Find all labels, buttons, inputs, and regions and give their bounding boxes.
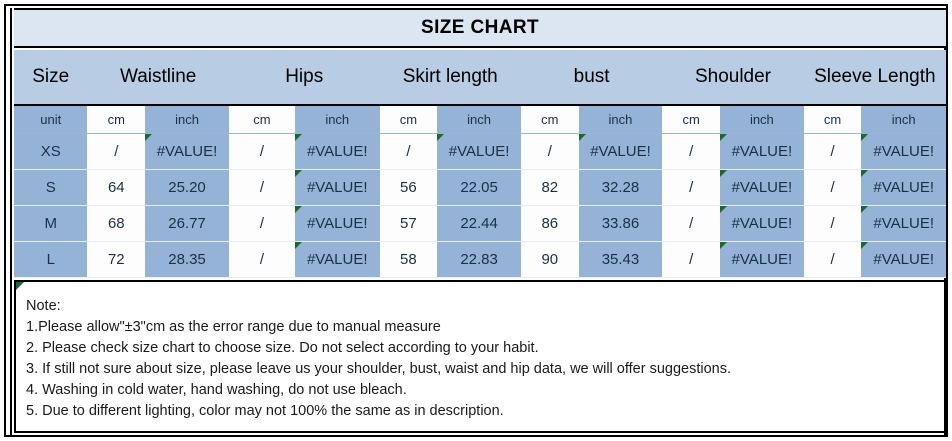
cell-value: #VALUE! [157, 143, 218, 160]
column-header-bust: bust [521, 50, 662, 104]
error-marker-icon [16, 282, 24, 290]
chart-outer-frame: SIZE CHART SizeWaistlineHipsSkirt length… [4, 4, 948, 437]
cell-value: 22.83 [460, 251, 498, 268]
measure-cell: 33.86 [579, 206, 663, 242]
measure-cell: #VALUE! [861, 170, 946, 206]
unit-cell-cm: cm [229, 106, 295, 134]
measure-cell: 35.43 [579, 242, 663, 278]
chart-title-band: SIZE CHART [14, 8, 946, 48]
error-marker-icon [437, 134, 444, 141]
column-header-size: Size [14, 50, 87, 104]
cell-value: / [830, 251, 834, 268]
size-table: unitcminchcminchcminchcminchcminchcminch… [14, 106, 946, 278]
measure-cell: 56 [380, 170, 438, 206]
error-marker-icon [861, 134, 868, 141]
unit-cell-inch: inch [295, 106, 380, 134]
cell-value: / [689, 179, 693, 196]
size-label-cell: XS [14, 134, 87, 170]
unit-cell-inch: inch [861, 106, 946, 134]
column-header-skirt-length: Skirt length [380, 50, 521, 104]
cell-value: / [114, 143, 118, 160]
measure-cell: / [229, 206, 295, 242]
cell-value: 56 [400, 179, 417, 196]
measure-cell: / [662, 170, 720, 206]
measure-cell: 22.44 [437, 206, 521, 242]
measure-cell: 72 [87, 242, 145, 278]
note-heading: Note: [26, 296, 934, 317]
cell-value: #VALUE! [873, 179, 934, 196]
cell-value: / [260, 251, 264, 268]
error-marker-icon [720, 206, 727, 213]
measure-cell: / [804, 134, 862, 170]
cell-value: / [260, 215, 264, 232]
cell-value: 64 [108, 179, 125, 196]
size-label-cell: S [14, 170, 87, 206]
cell-value: #VALUE! [732, 143, 793, 160]
unit-cell-inch: inch [720, 106, 804, 134]
measure-cell: / [662, 206, 720, 242]
cell-value: / [689, 143, 693, 160]
cell-value: 90 [541, 251, 558, 268]
measure-cell: #VALUE! [720, 170, 804, 206]
cell-value: #VALUE! [449, 143, 510, 160]
column-header-sleeve-length: Sleeve Length [804, 50, 946, 104]
table-row: S6425.20/#VALUE!5622.058232.28/#VALUE!/#… [14, 170, 946, 206]
error-marker-icon [861, 170, 868, 177]
size-label-cell: M [14, 206, 87, 242]
measure-cell: / [804, 242, 862, 278]
error-marker-icon [295, 206, 302, 213]
measure-cell: #VALUE! [295, 134, 380, 170]
measure-cell: #VALUE! [295, 170, 380, 206]
table-row: XS/#VALUE!/#VALUE!/#VALUE!/#VALUE!/#VALU… [14, 134, 946, 170]
cell-value: #VALUE! [873, 251, 934, 268]
error-marker-icon [579, 134, 586, 141]
cell-value: 86 [541, 215, 558, 232]
note-line: 4. Washing in cold water, hand washing, … [26, 380, 934, 401]
unit-cell-cm: cm [380, 106, 438, 134]
measure-cell: 86 [521, 206, 579, 242]
error-marker-icon [861, 242, 868, 249]
measure-cell: / [229, 242, 295, 278]
measure-cell: #VALUE! [861, 206, 946, 242]
cell-value: 28.35 [168, 251, 206, 268]
unit-cell-inch: inch [145, 106, 229, 134]
error-marker-icon [861, 206, 868, 213]
cell-value: #VALUE! [590, 143, 651, 160]
cell-value: / [689, 215, 693, 232]
cell-value: / [830, 179, 834, 196]
measure-cell: / [662, 134, 720, 170]
unit-cell-cm: cm [521, 106, 579, 134]
measure-cell: #VALUE! [861, 134, 946, 170]
unit-row-label: unit [14, 106, 87, 134]
column-header-waistline: Waistline [87, 50, 228, 104]
measure-cell: #VALUE! [295, 206, 380, 242]
chart-inner-frame: SIZE CHART SizeWaistlineHipsSkirt length… [10, 8, 946, 435]
measure-cell: / [229, 134, 295, 170]
note-line: 5. Due to different lighting, color may … [26, 401, 934, 422]
measure-cell: / [521, 134, 579, 170]
measure-cell: #VALUE! [720, 134, 804, 170]
measure-cell: / [229, 170, 295, 206]
cell-value: 22.44 [460, 215, 498, 232]
measure-cell: 68 [87, 206, 145, 242]
measure-cell: 32.28 [579, 170, 663, 206]
cell-value: / [830, 215, 834, 232]
note-list: 1.Please allow"±3"cm as the error range … [26, 317, 934, 422]
size-chart-screenshot: SIZE CHART SizeWaistlineHipsSkirt length… [0, 0, 952, 441]
cell-value: 22.05 [460, 179, 498, 196]
cell-value: #VALUE! [873, 215, 934, 232]
measure-cell: #VALUE! [295, 242, 380, 278]
cell-value: 72 [108, 251, 125, 268]
column-header-row: SizeWaistlineHipsSkirt lengthbustShoulde… [14, 50, 946, 106]
measure-cell: 90 [521, 242, 579, 278]
cell-value: #VALUE! [307, 215, 368, 232]
measure-cell: 22.05 [437, 170, 521, 206]
error-marker-icon [295, 242, 302, 249]
cell-value: / [830, 143, 834, 160]
measure-cell: / [662, 242, 720, 278]
cell-value: #VALUE! [307, 251, 368, 268]
measure-cell: 82 [521, 170, 579, 206]
measure-cell: 28.35 [145, 242, 229, 278]
measure-cell: #VALUE! [720, 242, 804, 278]
cell-value: 57 [400, 215, 417, 232]
error-marker-icon [720, 134, 727, 141]
measure-cell: #VALUE! [437, 134, 521, 170]
cell-value: 58 [400, 251, 417, 268]
measure-cell: 22.83 [437, 242, 521, 278]
cell-value: #VALUE! [732, 251, 793, 268]
cell-value: / [548, 143, 552, 160]
cell-value: / [260, 143, 264, 160]
measure-cell: #VALUE! [579, 134, 663, 170]
table-row: L7228.35/#VALUE!5822.839035.43/#VALUE!/#… [14, 242, 946, 278]
column-header-shoulder: Shoulder [662, 50, 803, 104]
size-label-cell: L [14, 242, 87, 278]
note-line: 3. If still not sure about size, please … [26, 359, 934, 380]
cell-value: / [689, 251, 693, 268]
unit-row: unitcminchcminchcminchcminchcminchcminch [14, 106, 946, 134]
cell-value: #VALUE! [732, 215, 793, 232]
error-marker-icon [295, 134, 302, 141]
note-line: 1.Please allow"±3"cm as the error range … [26, 317, 934, 338]
cell-value: / [260, 179, 264, 196]
measure-cell: / [804, 206, 862, 242]
cell-value: 82 [541, 179, 558, 196]
unit-cell-inch: inch [579, 106, 663, 134]
measure-cell: #VALUE! [861, 242, 946, 278]
measure-cell: #VALUE! [720, 206, 804, 242]
measure-cell: 64 [87, 170, 145, 206]
cell-value: 33.86 [602, 215, 640, 232]
measure-cell: #VALUE! [145, 134, 229, 170]
page-title: SIZE CHART [421, 17, 539, 39]
measure-cell: / [804, 170, 862, 206]
unit-cell-cm: cm [662, 106, 720, 134]
cell-value: / [406, 143, 410, 160]
unit-cell-cm: cm [804, 106, 862, 134]
column-header-hips: Hips [229, 50, 380, 104]
cell-value: 25.20 [168, 179, 206, 196]
error-marker-icon [295, 170, 302, 177]
cell-value: 68 [108, 215, 125, 232]
cell-value: 32.28 [602, 179, 640, 196]
measure-cell: / [87, 134, 145, 170]
measure-cell: 25.20 [145, 170, 229, 206]
unit-cell-inch: inch [437, 106, 521, 134]
cell-value: #VALUE! [732, 179, 793, 196]
unit-cell-cm: cm [87, 106, 145, 134]
measure-cell: 26.77 [145, 206, 229, 242]
error-marker-icon [720, 242, 727, 249]
measure-cell: 57 [380, 206, 438, 242]
note-line: 2. Please check size chart to choose siz… [26, 338, 934, 359]
cell-value: 35.43 [602, 251, 640, 268]
error-marker-icon [145, 134, 152, 141]
error-marker-icon [720, 170, 727, 177]
measure-cell: / [380, 134, 438, 170]
cell-value: #VALUE! [307, 143, 368, 160]
measure-cell: 58 [380, 242, 438, 278]
cell-value: #VALUE! [307, 179, 368, 196]
table-row: M6826.77/#VALUE!5722.448633.86/#VALUE!/#… [14, 206, 946, 242]
cell-value: 26.77 [168, 215, 206, 232]
cell-value: #VALUE! [873, 143, 934, 160]
note-box: Note: 1.Please allow"±3"cm as the error … [14, 280, 946, 433]
